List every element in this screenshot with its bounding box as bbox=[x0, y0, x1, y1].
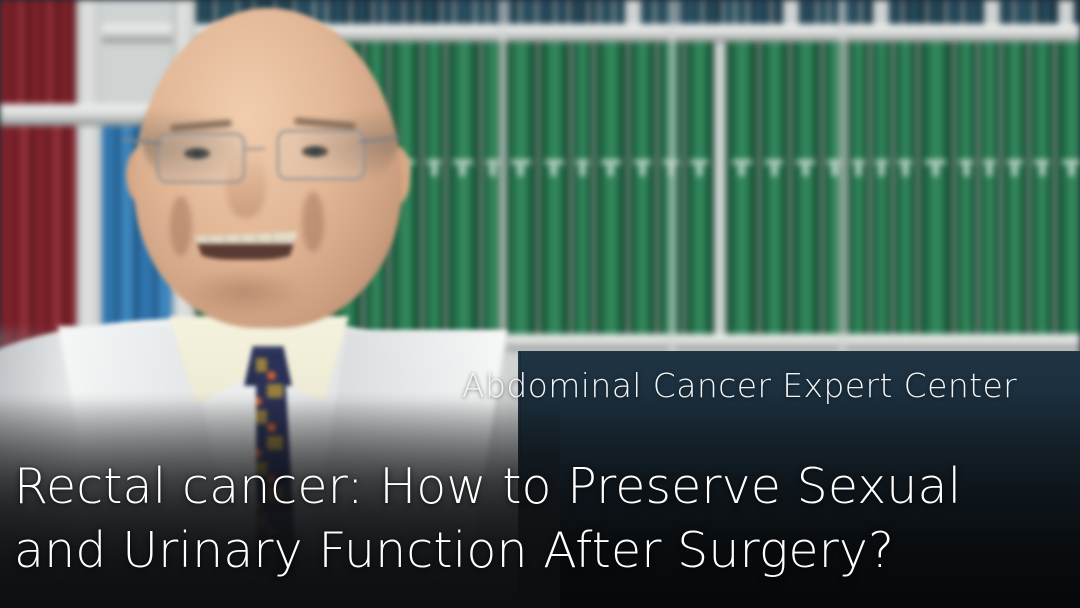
book-spine-green bbox=[919, 42, 953, 334]
book-spine bbox=[1015, 0, 1034, 24]
smile-line-right bbox=[302, 192, 324, 252]
book-label-tab bbox=[551, 165, 556, 176]
book-label-tab bbox=[772, 165, 777, 176]
book-spine bbox=[818, 0, 828, 24]
book-label-tab bbox=[832, 165, 837, 176]
book-spine bbox=[928, 0, 945, 24]
book-spine-green bbox=[955, 42, 977, 334]
book-label-tab bbox=[518, 165, 523, 176]
book-spine bbox=[615, 0, 625, 24]
book-spine-green bbox=[791, 42, 821, 334]
book-spine bbox=[964, 0, 984, 24]
book-spine bbox=[521, 0, 536, 24]
book-label bbox=[690, 160, 708, 164]
book-spine-green bbox=[1030, 42, 1054, 334]
book-label bbox=[765, 160, 783, 164]
book-spine-green bbox=[1056, 42, 1080, 334]
nose bbox=[226, 150, 266, 218]
book-spine-green bbox=[539, 42, 570, 334]
book-spine bbox=[862, 0, 873, 24]
book-spine bbox=[1074, 0, 1080, 24]
video-title-line-2: and Urinary Function After Surgery? bbox=[14, 519, 1074, 583]
smile-line-left bbox=[170, 196, 192, 256]
book-spine bbox=[736, 0, 747, 24]
book-label-tab bbox=[856, 165, 861, 176]
book-label-tab bbox=[1040, 165, 1045, 176]
book-spine bbox=[680, 0, 702, 24]
book-label-tab bbox=[1012, 165, 1017, 176]
video-thumbnail: Abdominal Cancer Expert Center Rectal ca… bbox=[0, 0, 1080, 608]
book-spine bbox=[947, 0, 962, 24]
book-label-tab bbox=[933, 165, 938, 176]
book-spine bbox=[589, 0, 598, 24]
book-label bbox=[601, 160, 621, 164]
book-spine bbox=[772, 0, 783, 24]
book-spine-green bbox=[685, 42, 714, 334]
book-spine-green bbox=[726, 42, 758, 334]
book-spine-green bbox=[848, 42, 869, 334]
book-label-tab bbox=[608, 165, 613, 176]
necktie-dot bbox=[267, 371, 276, 380]
book-spine-green bbox=[871, 42, 892, 334]
book-spine bbox=[570, 0, 587, 24]
video-title: Rectal cancer: How to Preserve Sexual an… bbox=[14, 455, 1074, 582]
book-label bbox=[576, 160, 589, 164]
book-label bbox=[1034, 160, 1049, 164]
book-spine bbox=[704, 0, 722, 24]
book-spine bbox=[799, 0, 816, 24]
book-label-tab bbox=[739, 165, 744, 176]
book-spine-green bbox=[979, 42, 1000, 334]
book-spine bbox=[1036, 0, 1058, 24]
video-title-line-1: Rectal cancer: How to Preserve Sexual bbox=[14, 455, 1074, 519]
book-label bbox=[545, 160, 564, 164]
book-spine-green bbox=[572, 42, 593, 334]
book-label-tab bbox=[987, 165, 992, 176]
book-spine-green bbox=[595, 42, 627, 334]
book-label-tab bbox=[903, 165, 908, 176]
book-label bbox=[634, 160, 651, 164]
chin-shadow bbox=[184, 268, 304, 316]
book-label-tab bbox=[697, 165, 702, 176]
book-spine-green bbox=[894, 42, 917, 334]
book-label-tab bbox=[879, 165, 884, 176]
book-label bbox=[898, 160, 912, 164]
book-spine bbox=[889, 0, 902, 24]
book-spine bbox=[904, 0, 926, 24]
book-label-tab bbox=[1069, 165, 1074, 176]
book-label bbox=[1007, 160, 1023, 164]
book-label bbox=[1062, 160, 1080, 164]
book-label bbox=[875, 160, 888, 164]
eyeglasses-lens-right bbox=[277, 130, 365, 180]
book-label bbox=[959, 160, 973, 164]
book-spine bbox=[556, 0, 568, 24]
brand-subtitle: Abdominal Cancer Expert Center bbox=[462, 366, 1017, 405]
book-label bbox=[796, 160, 815, 164]
book-label bbox=[852, 160, 865, 164]
book-label bbox=[732, 160, 752, 164]
book-label bbox=[511, 160, 531, 164]
book-label-tab bbox=[640, 165, 645, 176]
book-spine-green bbox=[629, 42, 656, 334]
book-spine bbox=[641, 0, 654, 24]
book-label-tab bbox=[964, 165, 969, 176]
book-label bbox=[925, 160, 946, 164]
book-spine bbox=[600, 0, 613, 24]
book-spine bbox=[1000, 0, 1013, 24]
book-spine-green bbox=[1002, 42, 1028, 334]
book-label-tab bbox=[580, 165, 585, 176]
book-spine bbox=[538, 0, 554, 24]
book-spine bbox=[724, 0, 734, 24]
book-spine bbox=[749, 0, 770, 24]
book-label bbox=[983, 160, 996, 164]
book-label-tab bbox=[803, 165, 808, 176]
book-spine-green bbox=[760, 42, 789, 334]
